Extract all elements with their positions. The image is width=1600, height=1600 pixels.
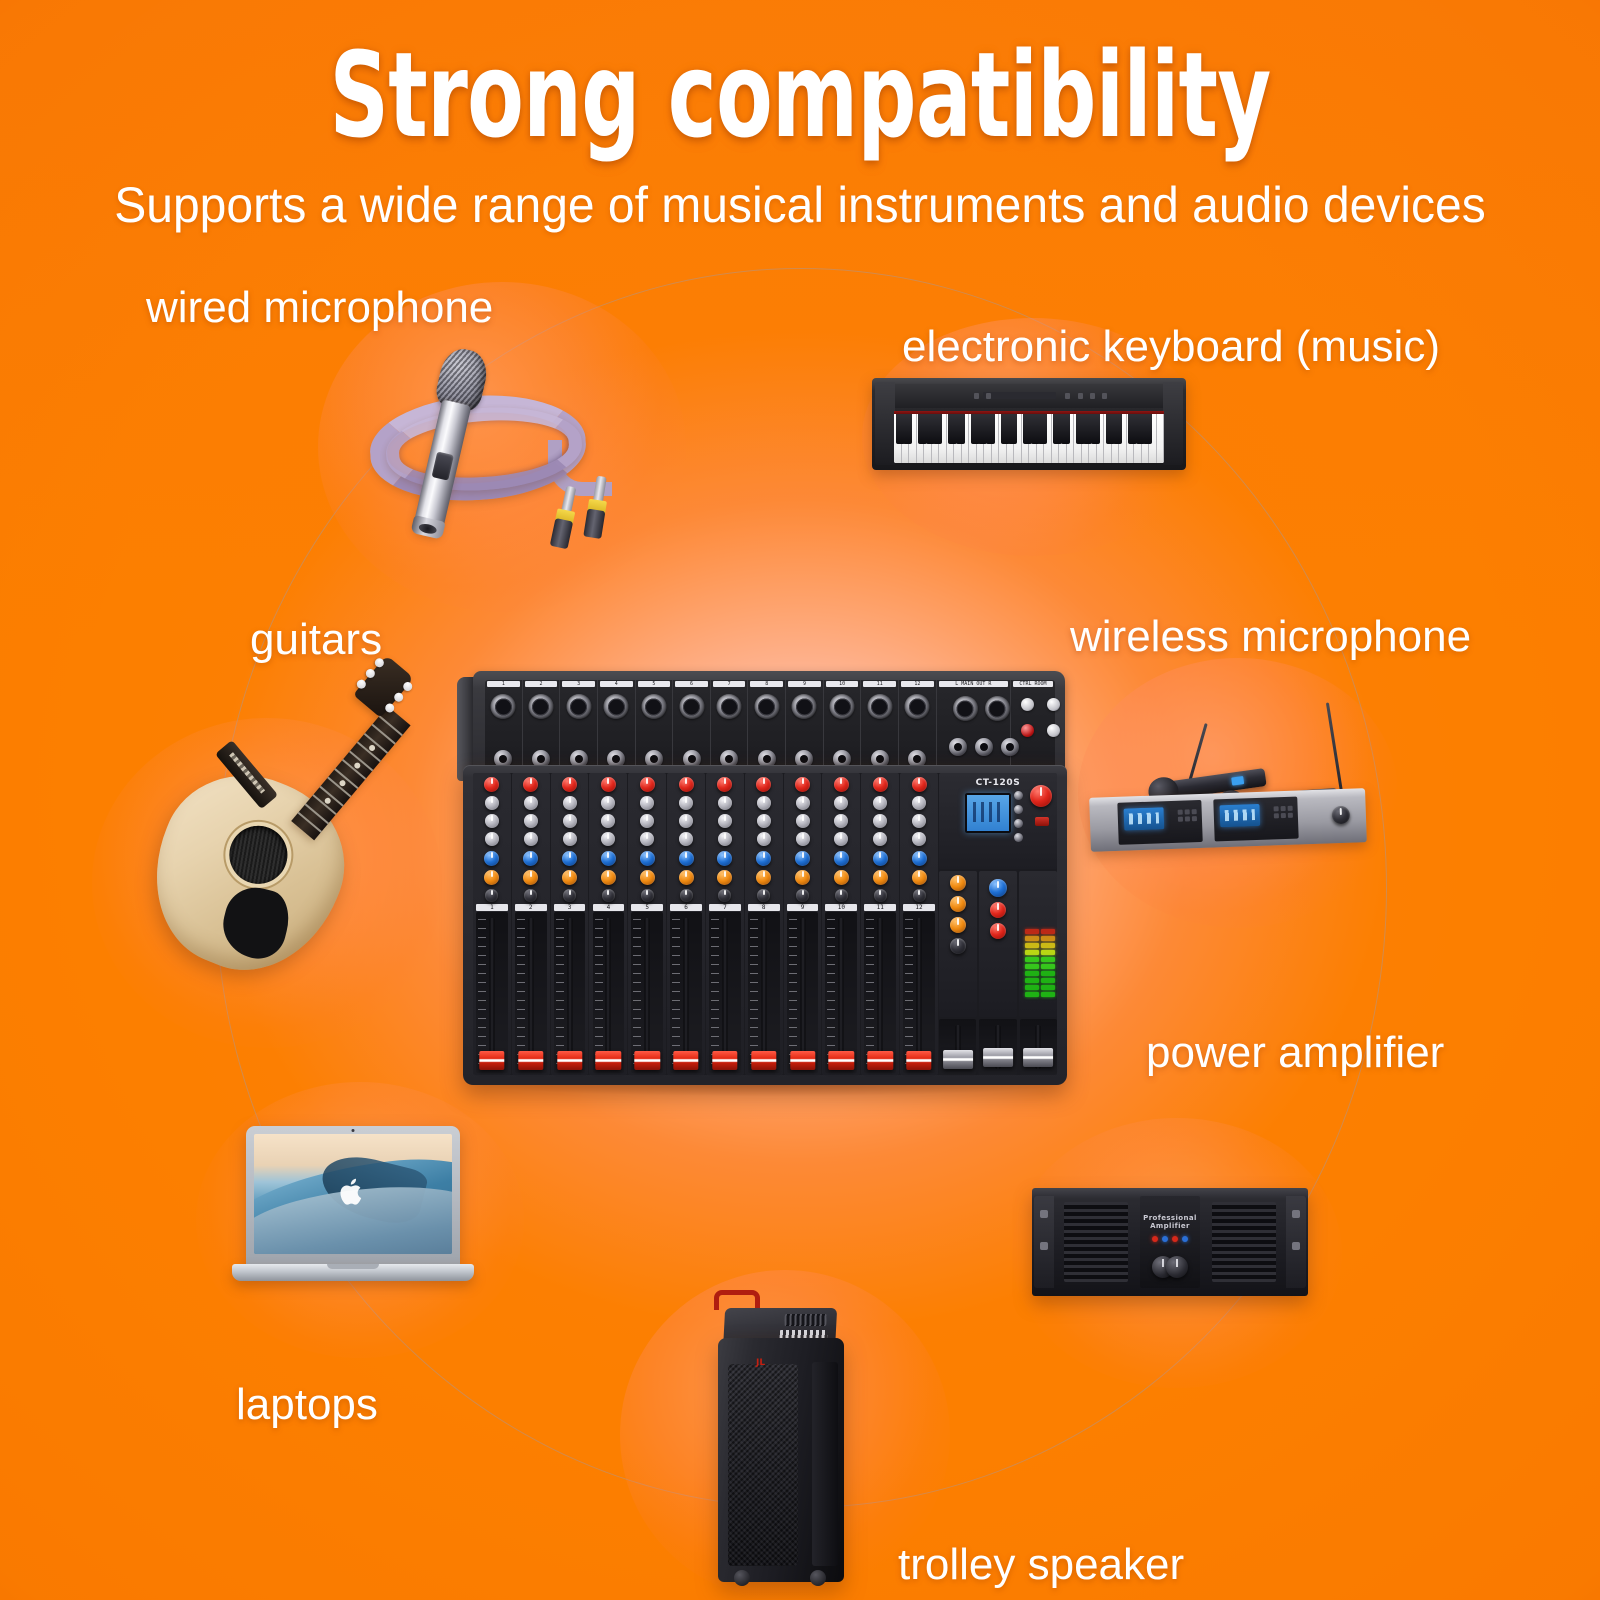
rca-jack[interactable] [1021,724,1034,737]
aux-knob-ch1[interactable] [484,851,499,866]
mixer-ctrl-room-section: CTRL ROOM [1011,680,1055,776]
xlr-input-jack[interactable] [528,694,553,719]
eq-low-knob-ch10[interactable] [834,832,848,846]
eq-hi-knob-ch10[interactable] [834,796,848,810]
eq-hi-knob-ch6[interactable] [679,796,693,810]
pan-knob-ch5[interactable] [641,889,654,902]
channel-fader-slot-10[interactable] [825,912,857,1073]
effects-knob[interactable] [950,875,966,891]
xlr-pin [503,708,506,711]
gain-knob-ch2[interactable] [523,777,538,792]
channel-fader-cap-4[interactable] [596,1051,621,1070]
label-electronic-keyboard: electronic keyboard (music) [902,322,1440,372]
media-button[interactable] [1014,819,1023,828]
input-channel-number: 7 [713,681,746,687]
input-channel-number: 6 [675,681,708,687]
eq-mid-knob-ch11[interactable] [873,814,887,828]
mixer-channel-strip-3: 3 [551,773,589,1075]
keyboard-right-endcap [1163,382,1183,465]
pan-knob-ch2[interactable] [524,889,537,902]
xlr-pin [920,701,923,704]
pan-knob-ch8[interactable] [757,889,770,902]
fx-knob-ch11[interactable] [873,870,888,885]
gain-knob-ch10[interactable] [834,777,849,792]
aux-knob-ch11[interactable] [873,851,888,866]
xlr-input-jack[interactable] [830,694,855,719]
main-left-fader-cap[interactable] [983,1048,1013,1067]
mixer-channel-strip-10: 10 [822,773,860,1075]
keyboard-display [983,392,1056,399]
xlr-input-jack[interactable] [604,694,629,719]
keyboard-button [1090,393,1095,399]
aux-knob-ch9[interactable] [795,851,810,866]
aux-knob-ch10[interactable] [834,851,849,866]
fader-scale [711,919,719,1066]
receiver-display-b [1219,804,1260,827]
channel-number-label: 6 [670,904,702,911]
channel-fader-cap-1[interactable] [479,1051,504,1070]
aux-send-knob[interactable] [990,923,1006,939]
xlr-input-jack[interactable] [679,694,704,719]
media-button[interactable] [1014,805,1023,814]
effects-knob[interactable] [950,938,966,954]
piano-white-key [917,414,925,463]
piano-black-key [1143,414,1152,444]
eq-hi-knob-ch4[interactable] [601,796,615,810]
phones-jack[interactable] [949,738,967,756]
level-meter-segment [1025,985,1055,990]
aux-knob-ch4[interactable] [601,851,616,866]
input-channel-number: 12 [901,681,934,687]
eq-low-knob-ch7[interactable] [718,832,732,846]
channel-fader-cap-7[interactable] [712,1051,737,1070]
xlr-pin [540,708,543,711]
channel-fader-cap-5[interactable] [635,1051,660,1070]
fader-track [645,918,650,1067]
mixer-channel-strip-2: 2 [512,773,550,1075]
mixer-main-out-section: L MAIN OUT RPHONESAUX SENDEFFECT [937,680,1011,776]
main-out-xlr-left[interactable] [953,696,978,721]
input-channel-number: 11 [863,681,896,687]
channel-fader-slot-7[interactable] [709,912,741,1073]
keyboard-control-panel [877,384,1181,408]
channel-fader-cap-2[interactable] [518,1051,543,1070]
channel-fader-cap-11[interactable] [867,1051,892,1070]
channel-fader-slot-9[interactable] [787,912,819,1073]
xlr-input-jack[interactable] [717,694,742,719]
piano-white-key [954,414,962,463]
label-laptops: laptops [236,1380,378,1430]
channel-number-label: 8 [748,904,780,911]
fx-knob-ch1[interactable] [484,870,499,885]
channel-fader-slot-4[interactable] [593,912,625,1073]
piano-black-key [903,414,912,444]
gain-knob-ch1[interactable] [484,777,499,792]
gain-knob-ch8[interactable] [756,777,771,792]
xlr-pin [694,701,697,704]
piano-black-key [1113,414,1122,444]
eq-low-knob-ch8[interactable] [757,832,771,846]
mixer-channel-strips: 123456789101112 [473,773,938,1075]
gain-knob-ch12[interactable] [912,777,927,792]
piano-white-key [1104,414,1112,463]
eq-hi-knob-ch12[interactable] [912,796,926,810]
mixer-channel-strip-11: 11 [861,773,899,1075]
pan-knob-ch7[interactable] [718,889,731,902]
rack-ear-left [1034,1196,1054,1288]
fader-scale [517,919,525,1066]
eq-mid-knob-ch9[interactable] [796,814,810,828]
media-button[interactable] [1014,833,1023,842]
pan-knob-ch6[interactable] [680,889,693,902]
mixer-master-section: CT-120S [939,773,1057,1075]
aux-knob-ch3[interactable] [562,851,577,866]
input-channel-number: 5 [638,681,671,687]
effects-knob[interactable] [950,896,966,912]
channel-fader-slot-1[interactable] [476,912,508,1073]
eq-low-knob-ch11[interactable] [873,832,887,846]
xlr-pin [917,708,920,711]
plug-body [550,518,573,549]
eq-low-knob-ch2[interactable] [524,832,538,846]
fader-track [917,918,922,1067]
input-channel-number: 8 [750,681,783,687]
aux-knob-ch7[interactable] [717,851,732,866]
mixer-input-channel-6: 6 [673,680,711,776]
receiver-keypad-a[interactable] [1178,809,1197,822]
fx-knob-ch7[interactable] [717,870,732,885]
xlr-input-jack[interactable] [867,694,892,719]
effects-fader-cap[interactable] [943,1050,973,1069]
aux-knob-ch5[interactable] [640,851,655,866]
laptop-base [232,1264,474,1281]
eq-hi-knob-ch11[interactable] [873,796,887,810]
piano-white-key [1082,414,1090,463]
fader-scale [556,919,564,1066]
piano-white-key [1052,414,1060,463]
mixer-usb-media-module: CT-120S [939,773,1057,869]
guitar-tuning-peg [355,678,368,691]
main-right-fader-cap[interactable] [1023,1048,1053,1067]
piano-white-key [999,414,1007,463]
speaker-brand-logo: JL [756,1358,765,1368]
page-title: Strong compatibility [240,36,1360,154]
plug-body [583,509,605,539]
pan-knob-ch12[interactable] [913,889,926,902]
speaker-trolley-handle [714,1290,760,1310]
mixer-channel-strip-4: 4 [589,773,627,1075]
xlr-pin [876,701,879,704]
eq-hi-knob-ch1[interactable] [485,796,499,810]
keyboard-button [986,393,991,399]
xlr-input-jack[interactable] [566,694,591,719]
mixer-input-channel-9: 9 [786,680,824,776]
pan-knob-ch10[interactable] [835,889,848,902]
piano-white-key [1157,414,1165,463]
main-right-fader-slot[interactable] [1020,1019,1057,1075]
piano-white-key [1037,414,1045,463]
mixer-master-faders [939,1019,1057,1075]
piano-black-key [1038,414,1047,444]
xlr-pin [801,701,804,704]
xlr-input-jack[interactable] [905,694,930,719]
rca-jack[interactable] [1047,698,1060,711]
keyboard-button [974,393,979,399]
channel-fader-cap-3[interactable] [557,1051,582,1070]
aux-send-jack[interactable] [975,738,993,756]
effects-fader-slot[interactable] [939,1019,976,1075]
channel-fader-slot-6[interactable] [670,912,702,1073]
level-meter-segment [1025,992,1055,997]
eq-hi-knob-ch8[interactable] [757,796,771,810]
xlr-input-jack[interactable] [754,694,779,719]
piano-black-key [1091,414,1100,444]
aux-knob-ch8[interactable] [756,851,771,866]
fader-track [528,918,533,1067]
eq-hi-knob-ch9[interactable] [796,796,810,810]
fader-track [761,918,766,1067]
piano-white-key [932,414,940,463]
label-guitars: guitars [250,615,382,665]
mixer-front-panel: 123456789101112 CT-120S [463,765,1067,1085]
level-meter-segment [1025,929,1055,934]
channel-fader-slot-11[interactable] [864,912,896,1073]
mixer-input-channel-1: 1 [485,680,523,776]
mp3-level-knob[interactable] [1030,785,1052,807]
eq-hi-knob-ch5[interactable] [640,796,654,810]
label-wireless-microphone: wireless microphone [1070,612,1471,662]
xlr-input-jack[interactable] [641,694,666,719]
fader-scale [866,919,874,1066]
xlr-pin [968,703,971,706]
wireless-receiver-rack [1089,788,1367,852]
fx-knob-ch3[interactable] [562,870,577,885]
mixer-input-channel-7: 7 [711,680,749,776]
bt-switch[interactable] [1035,817,1049,826]
fx-knob-ch4[interactable] [601,870,616,885]
pan-knob-ch1[interactable] [485,889,498,902]
speaker-wheel [810,1570,826,1586]
eq-low-knob-ch4[interactable] [601,832,615,846]
xlr-pin [688,701,691,704]
keyboard-keybed [894,414,1164,463]
keyboard-button [1065,393,1070,399]
eq-low-knob-ch6[interactable] [679,832,693,846]
aux-tape-column [979,871,1017,1017]
speaker-side-face [812,1362,838,1566]
eq-mid-knob-ch5[interactable] [640,814,654,828]
xlr-pin [879,708,882,711]
pan-knob-ch11[interactable] [874,889,887,902]
label-trolley-speaker: trolley speaker [898,1540,1184,1590]
eq-mid-knob-ch1[interactable] [485,814,499,828]
aux-knob-ch6[interactable] [679,851,694,866]
piano-white-key [977,414,985,463]
main-out-xlr-right[interactable] [985,696,1010,721]
product-electronic-keyboard [872,378,1186,470]
mixer-master-controls [939,871,1057,1017]
receiver-keypad-b[interactable] [1274,806,1293,819]
gain-knob-ch3[interactable] [562,777,577,792]
fader-scale [478,919,486,1066]
xlr-input-jack[interactable] [792,694,817,719]
eq-mid-knob-ch7[interactable] [718,814,732,828]
mixer-channel-strip-8: 8 [745,773,783,1075]
laptop-lid [246,1126,460,1266]
eq-mid-knob-ch2[interactable] [524,814,538,828]
piano-white-key [1127,414,1135,463]
eq-mid-knob-ch12[interactable] [912,814,926,828]
input-channel-number: 10 [826,681,859,687]
xlr-pin [769,701,772,704]
page-subtitle: Supports a wide range of musical instrum… [32,176,1568,234]
piano-white-key [894,414,902,463]
mixer-channel-strip-7: 7 [706,773,744,1075]
eq-mid-knob-ch4[interactable] [601,814,615,828]
eq-hi-knob-ch7[interactable] [718,796,732,810]
gain-knob-ch6[interactable] [679,777,694,792]
xlr-pin [845,701,848,704]
fader-scale [672,919,680,1066]
xlr-pin [613,701,616,704]
channel-fader-slot-8[interactable] [748,912,780,1073]
xlr-pin [653,708,656,711]
mixer-input-jack-row: 123456789101112L MAIN OUT RPHONESAUX SEN… [485,680,1055,776]
xlr-input-jack[interactable] [491,694,516,719]
mixer-input-channel-10: 10 [824,680,862,776]
gain-knob-ch5[interactable] [640,777,655,792]
label-wired-microphone: wired microphone [146,283,493,333]
piano-white-key [1029,414,1037,463]
keyboard-button [1078,393,1083,399]
eq-mid-knob-ch8[interactable] [757,814,771,828]
fx-knob-ch9[interactable] [795,870,810,885]
eq-mid-knob-ch3[interactable] [563,814,577,828]
xlr-pin [581,701,584,704]
eq-low-knob-ch12[interactable] [912,832,926,846]
gain-knob-ch7[interactable] [717,777,732,792]
input-channel-number: 9 [788,681,821,687]
fx-knob-ch12[interactable] [912,870,927,885]
fader-track [800,918,805,1067]
channel-fader-slot-2[interactable] [515,912,547,1073]
eq-hi-knob-ch2[interactable] [524,796,538,810]
receiver-volume-knob[interactable] [1332,806,1351,825]
channel-fader-cap-10[interactable] [829,1051,854,1070]
piano-white-key [1074,414,1082,463]
level-meter [1025,879,1055,997]
xlr-pin [994,703,997,706]
xlr-pin [650,701,653,704]
rca-jack[interactable] [1047,724,1060,737]
fx-knob-ch8[interactable] [756,870,771,885]
guitar-tuning-peg [392,691,405,704]
pan-knob-ch4[interactable] [602,889,615,902]
mixer-channel-strip-6: 6 [667,773,705,1075]
fx-knob-ch10[interactable] [834,870,849,885]
fader-track [684,918,689,1067]
channel-number-label: 3 [554,904,586,911]
eq-low-knob-ch1[interactable] [485,832,499,846]
product-trolley-speaker: JL [700,1300,870,1590]
channel-number-label: 1 [476,904,508,911]
speaker-cabinet [718,1338,844,1582]
rca-jack[interactable] [1021,698,1034,711]
channel-fader-cap-6[interactable] [673,1051,698,1070]
channel-number-label: 12 [903,904,935,911]
media-button[interactable] [1014,791,1023,800]
amplifier-channel-b-knob[interactable] [1166,1256,1188,1278]
piano-white-key [902,414,910,463]
mixer-channel-strip-5: 5 [628,773,666,1075]
fx-knob-ch2[interactable] [523,870,538,885]
gain-knob-ch9[interactable] [795,777,810,792]
mixer-channel-area: 123456789101112 CT-120S [473,773,1057,1075]
eq-mid-knob-ch10[interactable] [834,814,848,828]
pan-knob-ch9[interactable] [796,889,809,902]
gain-knob-ch11[interactable] [873,777,888,792]
eq-low-knob-ch3[interactable] [563,832,577,846]
aux-knob-ch2[interactable] [523,851,538,866]
eq-low-knob-ch5[interactable] [640,832,654,846]
fader-track [606,918,611,1067]
gain-knob-ch4[interactable] [601,777,616,792]
mixer-channel-strip-12: 12 [900,773,938,1075]
eq-hi-knob-ch3[interactable] [563,796,577,810]
xlr-pin [691,708,694,711]
fader-scale [595,919,603,1066]
fader-track [878,918,883,1067]
mic-plug-trs [550,485,580,549]
eq-mid-knob-ch6[interactable] [679,814,693,828]
eq-low-knob-ch9[interactable] [796,832,810,846]
level-meter-segment [1025,943,1055,948]
main-left-fader-slot[interactable] [979,1019,1016,1075]
product-wireless-microphone-system [1090,700,1380,865]
laptop-webcam [352,1129,355,1132]
channel-fader-slot-5[interactable] [631,912,663,1073]
fx-knob-ch5[interactable] [640,870,655,885]
aux-return-knob[interactable] [990,902,1006,918]
keyboard-shell [872,378,1186,470]
rack-ear-right [1286,1196,1306,1288]
apple-logo-icon [340,1177,366,1207]
piano-white-key [947,414,955,463]
aux-knob-ch12[interactable] [912,851,927,866]
channel-fader-slot-3[interactable] [554,912,586,1073]
aux-tape-knob[interactable] [989,879,1007,897]
fx-knob-ch6[interactable] [679,870,694,885]
xlr-pin [965,710,968,713]
channel-fader-cap-8[interactable] [751,1051,776,1070]
receiver-display-a [1124,807,1165,830]
mixer-channel-strip-1: 1 [473,773,511,1075]
speaker-mesh-grille [728,1364,798,1566]
channel-fader-cap-9[interactable] [790,1051,815,1070]
pan-knob-ch3[interactable] [563,889,576,902]
header: Strong compatibility Supports a wide ran… [0,0,1600,234]
receiver-channel-b [1213,797,1298,842]
channel-fader-cap-12[interactable] [906,1051,931,1070]
piano-white-key [1089,414,1097,463]
mixer-media-buttons [1014,791,1023,842]
channel-fader-slot-12[interactable] [903,912,935,1073]
xlr-pin [914,701,917,704]
effects-knob[interactable] [950,917,966,933]
piano-black-key [956,414,965,444]
xlr-pin [656,701,659,704]
piano-white-key [1007,414,1015,463]
